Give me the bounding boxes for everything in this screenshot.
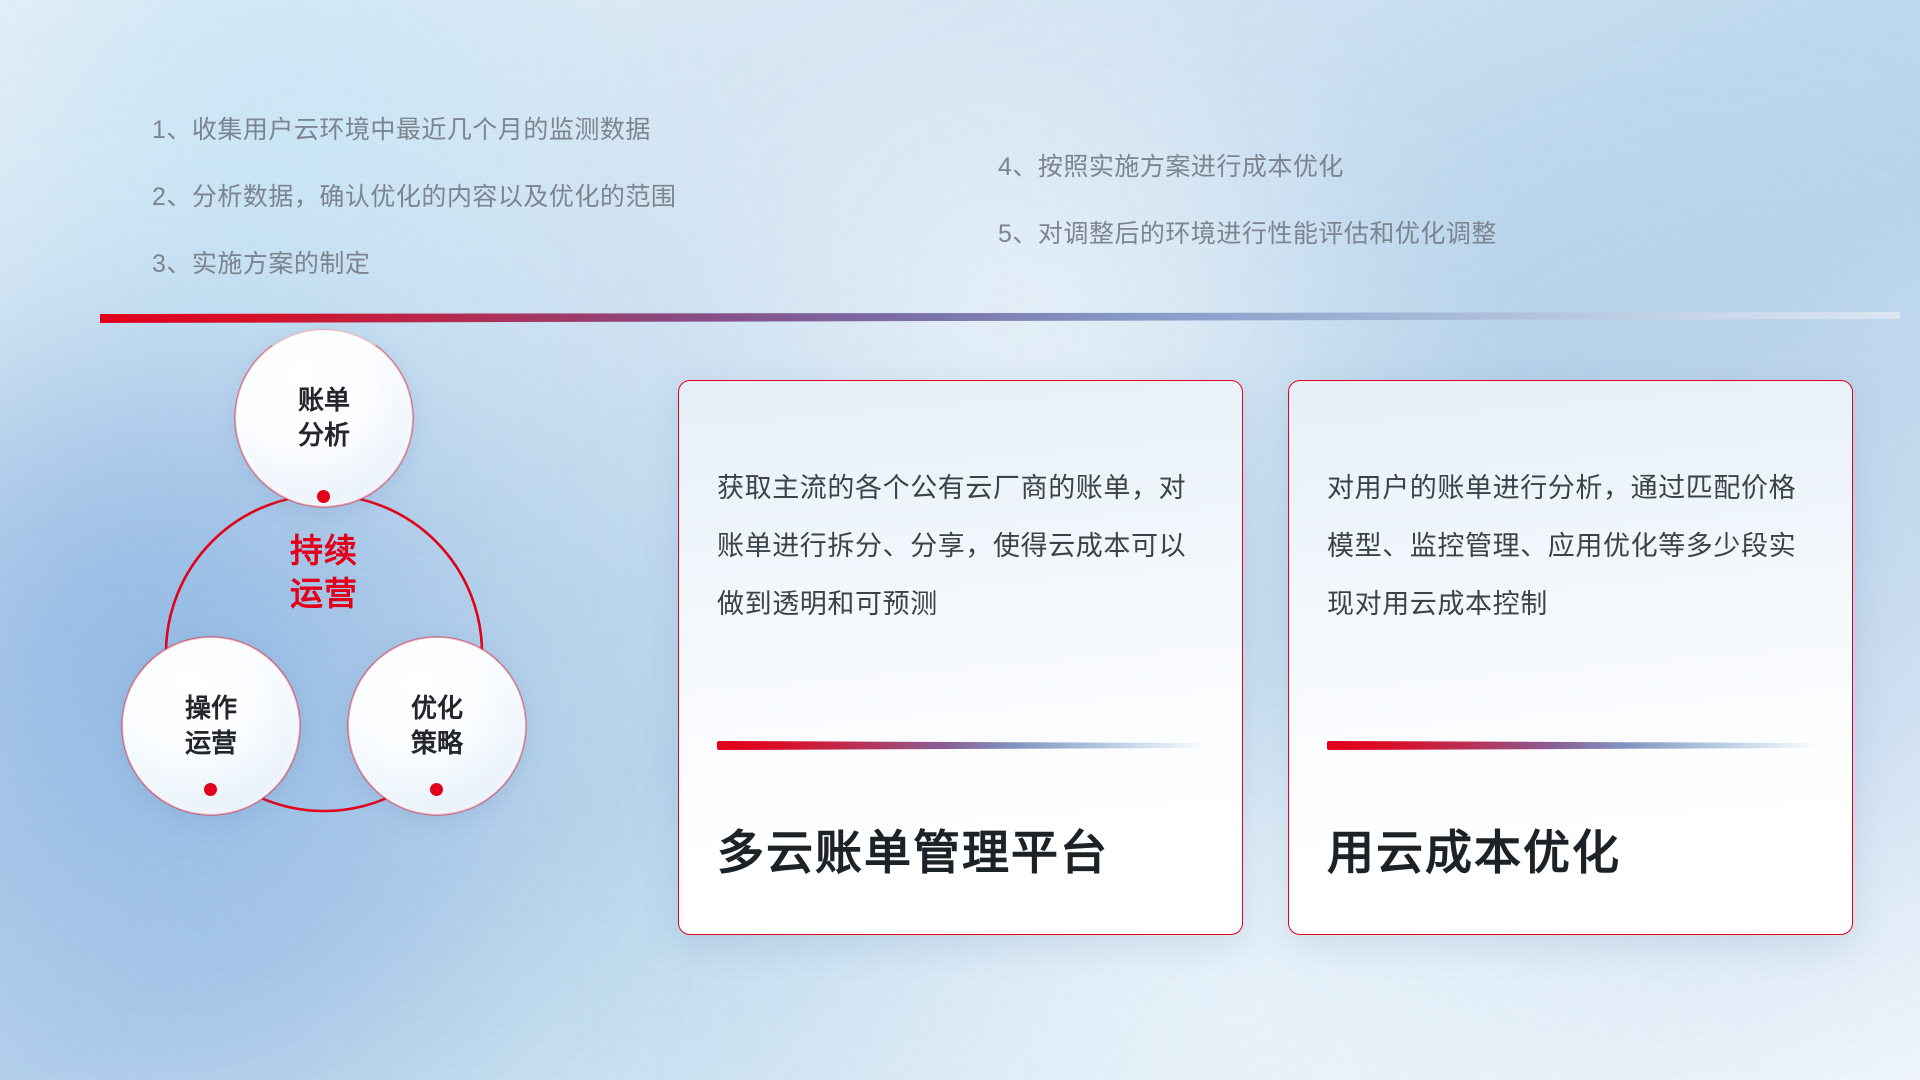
card-multicloud-billing-rule [717,741,1207,750]
card-multicloud-billing-title: 多云账单管理平台 [717,829,1109,876]
card-cloud-cost-optimization-title: 用云成本优化 [1327,829,1621,876]
card-cloud-cost-optimization-rule [1327,741,1817,750]
card-multicloud-billing[interactable]: 获取主流的各个公有云厂商的账单，对账单进行拆分、分享，使得云成本可以做到透明和可… [678,380,1243,935]
venn-node-operations-line1: 操作 [185,691,237,726]
venn-connector-dot-bottom-right [430,783,443,796]
card-multicloud-billing-body: 获取主流的各个公有云厂商的账单，对账单进行拆分、分享，使得云成本可以做到透明和可… [717,459,1210,633]
step-item-3: 3、实施方案的制定 [152,252,676,277]
venn-center-label-line1: 持续 [248,530,400,573]
step-item-1: 1、收集用户云环境中最近几个月的监测数据 [152,118,676,143]
venn-node-bill-analysis-line2: 分析 [298,418,350,453]
venn-node-optimization-strategy-line1: 优化 [411,691,463,726]
venn-connector-dot-bottom-left [204,783,217,796]
venn-node-optimization-strategy-line2: 策略 [411,726,463,761]
step-item-5: 5、对调整后的环境进行性能评估和优化调整 [998,222,1497,247]
card-cloud-cost-optimization-body: 对用户的账单进行分析，通过匹配价格模型、监控管理、应用优化等多少段实现对用云成本… [1327,459,1820,633]
venn-node-bill-analysis[interactable]: 账单 分析 [235,329,413,507]
venn-connector-dot-top [317,490,330,503]
venn-center-label: 持续 运营 [248,530,400,616]
steps-list-right: 4、按照实施方案进行成本优化 5、对调整后的环境进行性能评估和优化调整 [998,155,1497,247]
section-divider [100,312,1900,323]
venn-node-bill-analysis-line1: 账单 [298,383,350,418]
step-item-2: 2、分析数据，确认优化的内容以及优化的范围 [152,185,676,210]
divider-gradient-bar [100,312,1900,323]
steps-list-left: 1、收集用户云环境中最近几个月的监测数据 2、分析数据，确认优化的内容以及优化的… [152,118,676,277]
venn-center-label-line2: 运营 [248,573,400,616]
venn-node-operations-line2: 运营 [185,726,237,761]
card-cloud-cost-optimization[interactable]: 对用户的账单进行分析，通过匹配价格模型、监控管理、应用优化等多少段实现对用云成本… [1288,380,1853,935]
step-item-4: 4、按照实施方案进行成本优化 [998,155,1497,180]
venn-diagram: 账单 分析 操作 运营 优化 策略 持续 运营 [100,345,620,935]
